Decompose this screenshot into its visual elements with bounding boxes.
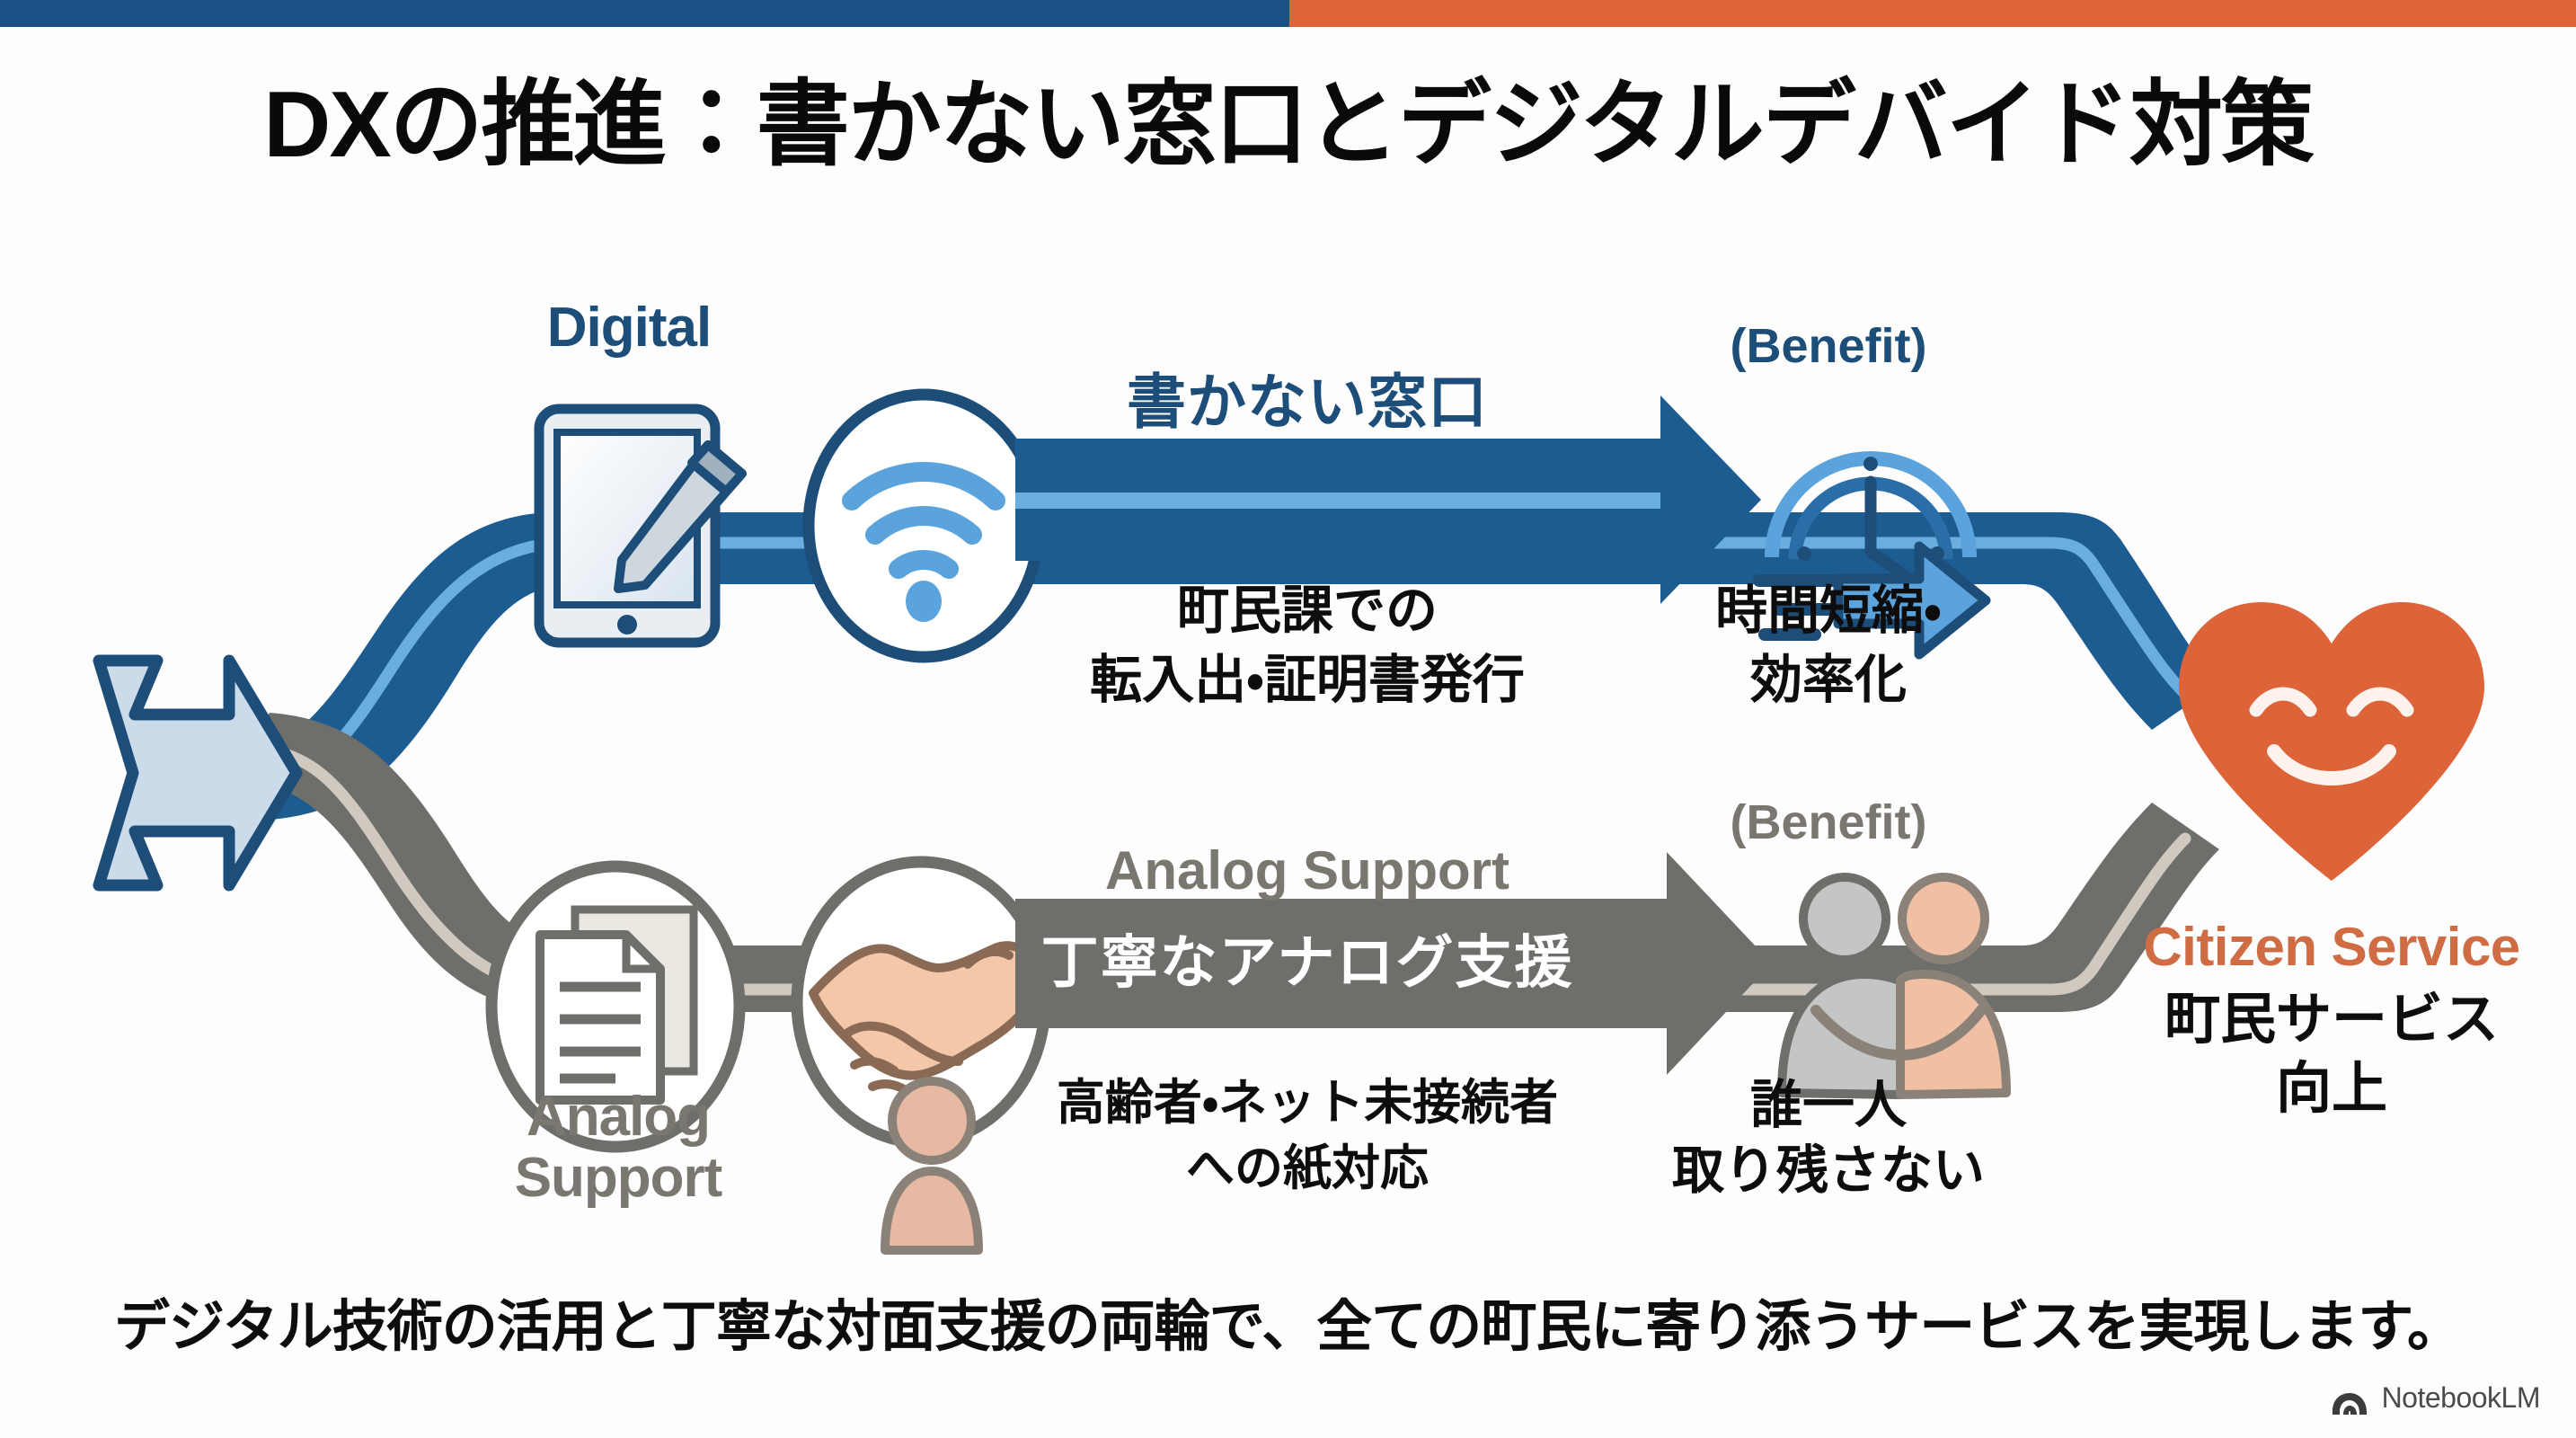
digital-benefit-label: (Benefit) (1731, 319, 1927, 375)
entry-chevron-icon (97, 658, 297, 890)
analog-track-label-line1: Analog (527, 1087, 710, 1146)
digital-track-label: Digital (547, 297, 711, 360)
analog-benefit-line2: 取り残さない (1672, 1140, 1985, 1203)
digital-arrow-detail-line2: 転入出・証明書発行 (1090, 649, 1525, 712)
slide-canvas: DXの推進：書かない窓口とデジタルデバイド対策 (0, 0, 2576, 1438)
analog-benefit-line1: 誰一人 (1750, 1074, 1907, 1137)
diagram-artwork (0, 0, 2576, 1438)
digital-arrow-detail-line1: 町民課での (1177, 580, 1438, 643)
slide-caption: デジタル技術の活用と丁寧な対面支援の両輪で、全ての町民に寄り添うサービスを実現し… (0, 1281, 2576, 1362)
notebooklm-watermark: NotebookLM (2333, 1381, 2540, 1415)
digital-benefit-line1: 時間短縮・ (1715, 580, 1942, 643)
outcome-en-label: Citizen Service (2143, 917, 2519, 978)
digital-benefit-line2: 効率化 (1750, 649, 1907, 712)
analog-track-label-line2: Support (515, 1149, 722, 1207)
analog-arrow-inner-text: 丁寧なアナログ支援 (1041, 930, 1574, 996)
outcome-jp-line1: 町民サービス (2164, 987, 2499, 1053)
wifi-icon (809, 395, 1039, 657)
digital-arrow-headline: 書かない窓口 (1127, 368, 1488, 436)
analog-arrow-detail-line1: 高齢者・ネット未接続者 (1057, 1074, 1558, 1132)
person-icon (885, 1081, 978, 1250)
tablet-pen-icon (539, 409, 742, 643)
analog-benefit-label: (Benefit) (1731, 795, 1927, 851)
outcome-jp-line2: 向上 (2276, 1056, 2387, 1123)
analog-arrow-detail-line2: への紙対応 (1186, 1140, 1429, 1198)
notebooklm-watermark-label: NotebookLM (2382, 1381, 2540, 1415)
analog-arrow-headline: Analog Support (1105, 840, 1509, 901)
smiling-heart-icon (2179, 602, 2484, 881)
